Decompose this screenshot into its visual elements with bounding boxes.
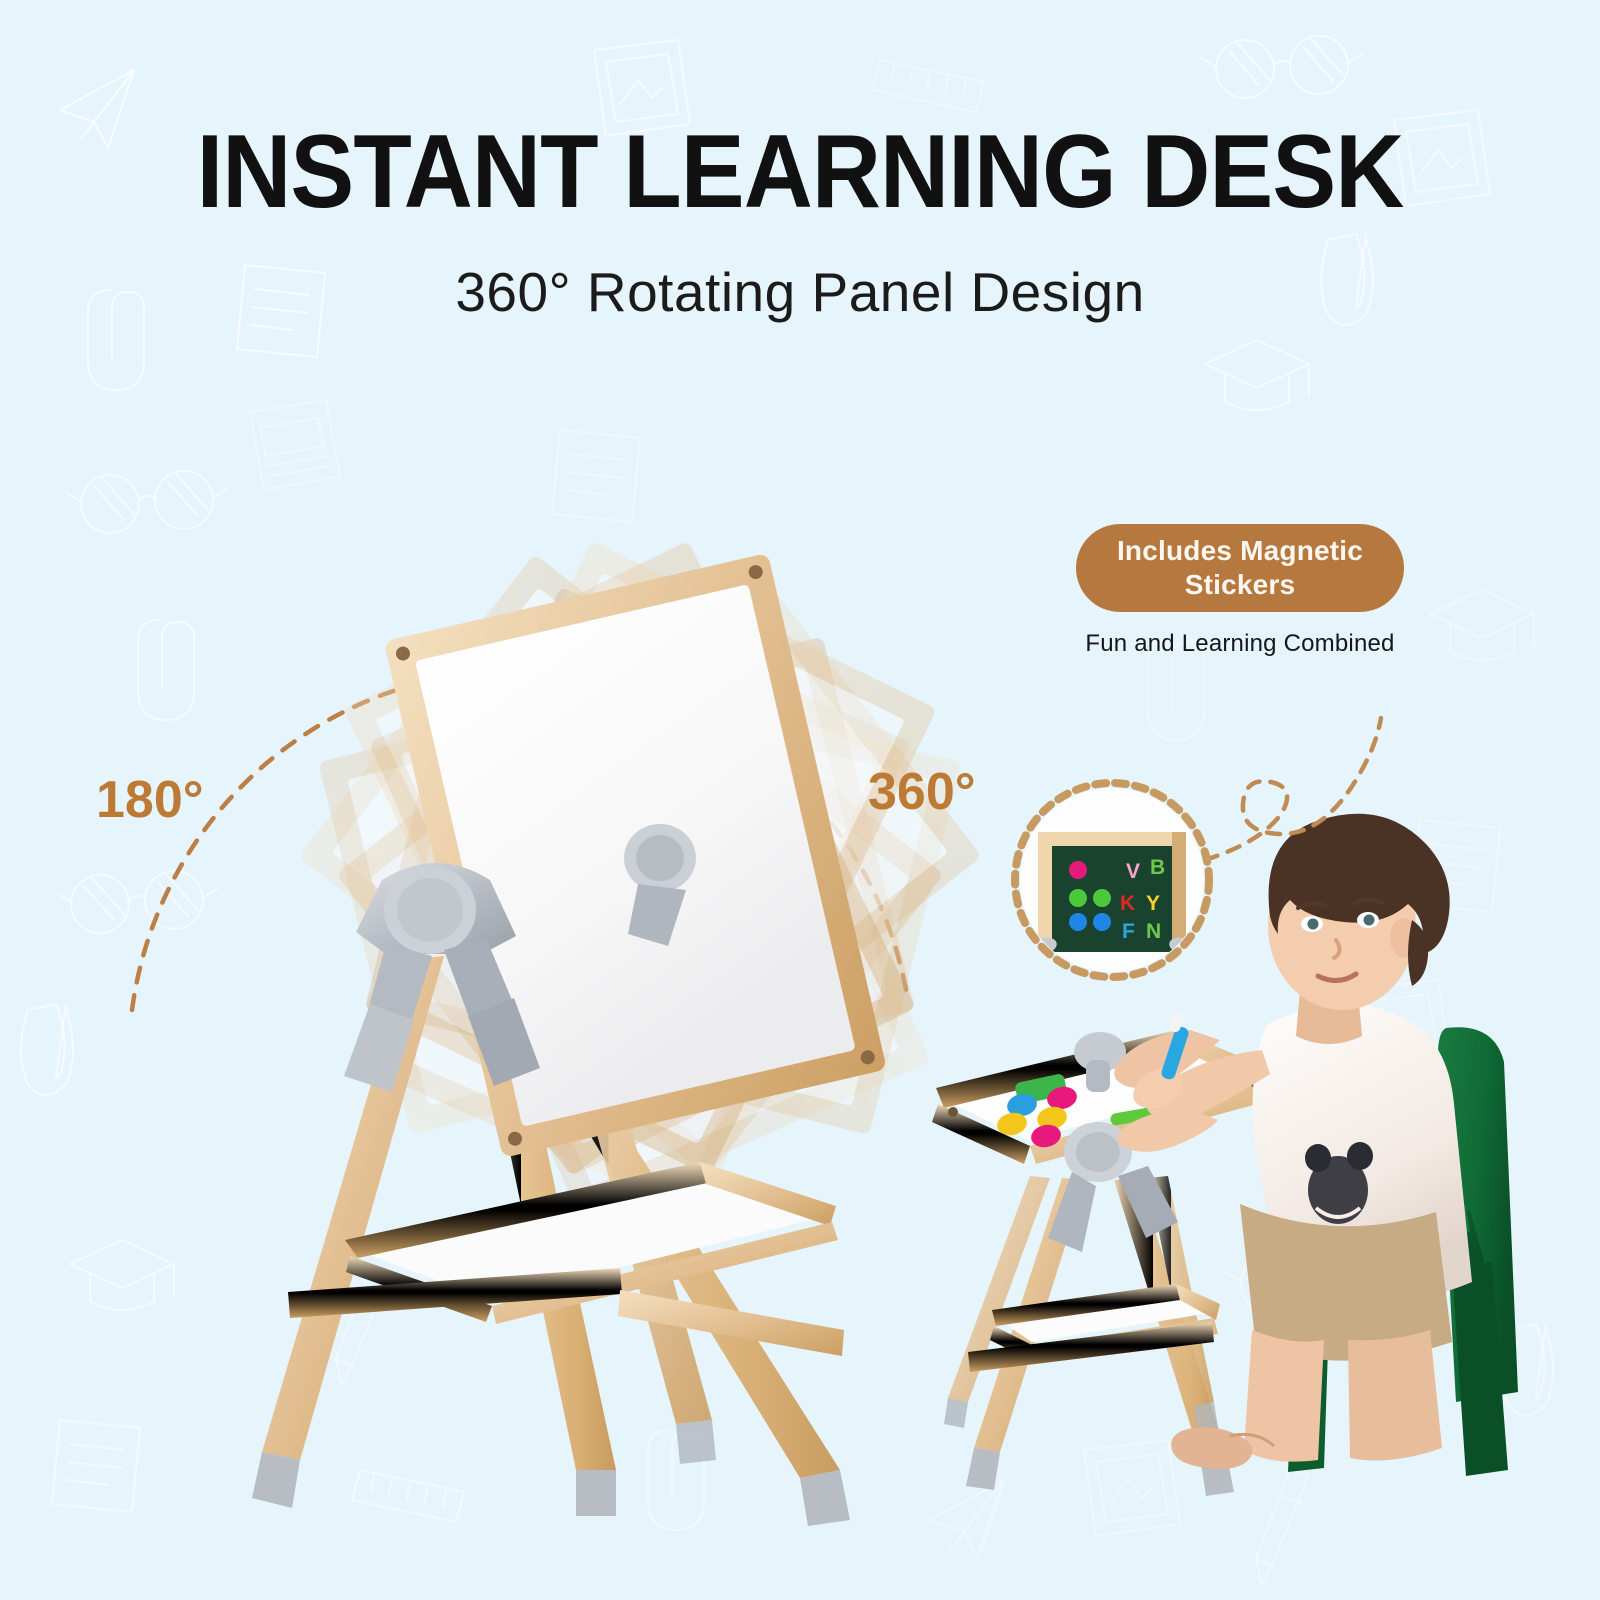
letter-V: V: [1126, 860, 1140, 883]
header: INSTANT LEARNING DESK 360° Rotating Pane…: [0, 0, 1600, 324]
page-title: INSTANT LEARNING DESK: [64, 120, 1536, 224]
page-subtitle: 360° Rotating Panel Design: [0, 260, 1600, 324]
magnet-dot: [1093, 913, 1111, 931]
letter-Y: Y: [1146, 892, 1160, 915]
magnet-dot: [1069, 889, 1087, 907]
letter-B: B: [1150, 856, 1165, 879]
letter-K: K: [1120, 892, 1135, 915]
badge-text: Includes Magnetic Stickers: [1117, 534, 1363, 602]
angle-label-180: 180°: [96, 770, 204, 830]
decorative-dashed-squiggle: [1190, 650, 1470, 880]
magnet-dot: [1093, 889, 1111, 907]
letter-F: F: [1122, 920, 1135, 943]
magnetic-stickers-badge[interactable]: Includes Magnetic Stickers: [1076, 524, 1404, 612]
badge-line-2: Stickers: [1185, 569, 1296, 600]
badge-line-1: Includes Magnetic: [1117, 535, 1363, 566]
letter-N: N: [1146, 920, 1161, 943]
magnet-dot: [1069, 913, 1087, 931]
chalkboard-inset: V B K Y F N: [1002, 770, 1222, 990]
magnet-dot: [1069, 861, 1087, 879]
badge-caption: Fun and Learning Combined: [1076, 630, 1404, 658]
angle-label-360: 360°: [868, 762, 976, 822]
